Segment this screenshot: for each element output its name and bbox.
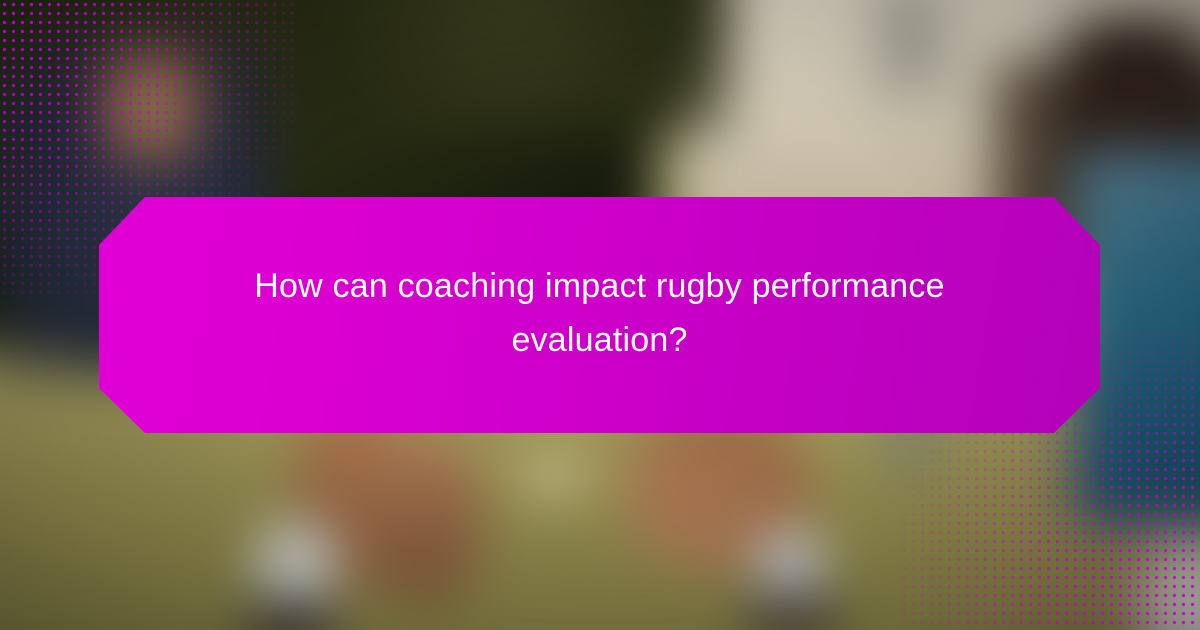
social-card: How can coaching impact rugby performanc…: [0, 0, 1200, 630]
title-banner: How can coaching impact rugby performanc…: [99, 197, 1100, 433]
page-title: How can coaching impact rugby performanc…: [200, 259, 1000, 371]
